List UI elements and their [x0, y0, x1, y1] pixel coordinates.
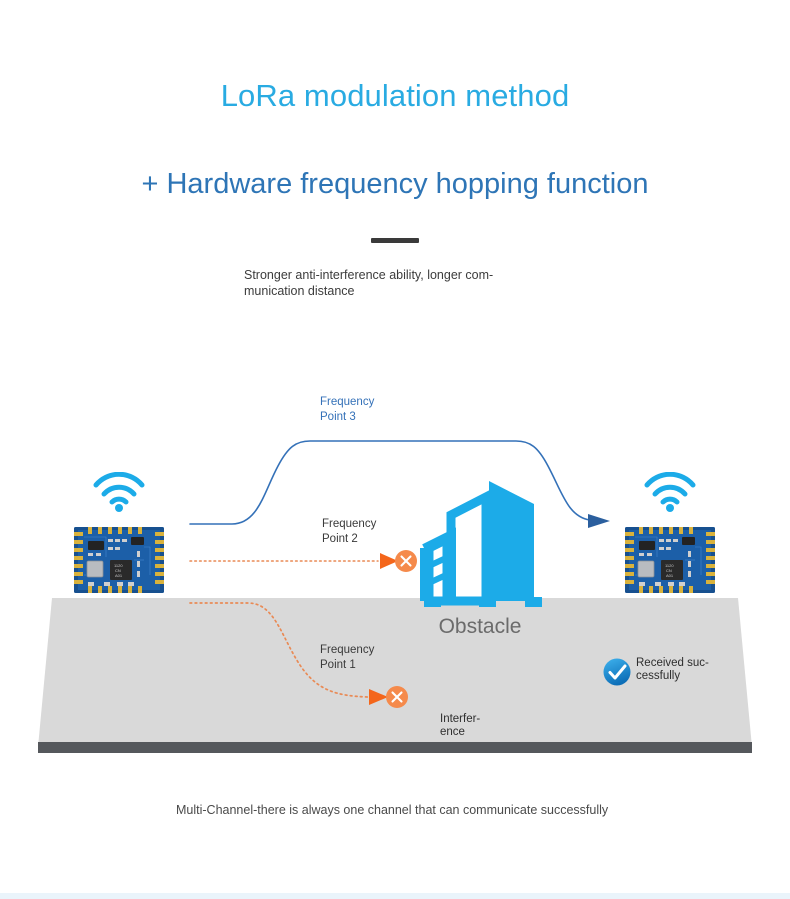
- check-circle-icon: [604, 659, 631, 686]
- page-subtitle-title: + Hardware frequency hopping function: [0, 168, 790, 201]
- label-frequency-point-2: Frequency Point 2: [322, 517, 376, 546]
- wifi-signal-icon: [642, 472, 698, 512]
- signal-path-frequency-point-2: [190, 550, 417, 572]
- label-received-successfully: Received suc- cessfully: [636, 657, 736, 683]
- bottom-strip: [0, 893, 790, 899]
- page-caption: Multi-Channel-there is always one channe…: [176, 803, 616, 818]
- label-frequency-point-1: Frequency Point 1: [320, 643, 374, 672]
- page-description: Stronger anti-interference ability, long…: [244, 268, 544, 299]
- page-title: LoRa modulation method: [0, 78, 790, 114]
- infographic-page: LoRa modulation method + Hardware freque…: [0, 0, 790, 899]
- blocked-marker-frequency-point-1: [386, 686, 408, 708]
- signal-path-frequency-point-3: [190, 441, 610, 528]
- arrow-triangle-icon: [369, 689, 388, 705]
- label-obstacle: Obstacle: [400, 615, 560, 639]
- lora-module-pcb-icon: 1120CNA01: [625, 527, 715, 593]
- label-interference: Interfer- ence: [440, 713, 510, 738]
- diagram-scene: [0, 0, 790, 899]
- wifi-signal-icon: [91, 472, 147, 512]
- blocked-marker-frequency-point-2: [395, 550, 417, 572]
- signal-path-frequency-point-1: [190, 603, 408, 708]
- label-frequency-point-3: Frequency Point 3: [320, 395, 374, 424]
- arrow-triangle-icon: [588, 514, 610, 528]
- building-obstacle-icon: [424, 481, 542, 607]
- arrow-triangle-icon: [380, 553, 398, 569]
- svg-text:A01: A01: [115, 573, 123, 578]
- svg-text:A01: A01: [666, 573, 674, 578]
- interference-waveform-icon: [420, 650, 513, 707]
- title-divider: [371, 238, 419, 243]
- lora-module-pcb-icon: 1120CNA01: [74, 527, 164, 593]
